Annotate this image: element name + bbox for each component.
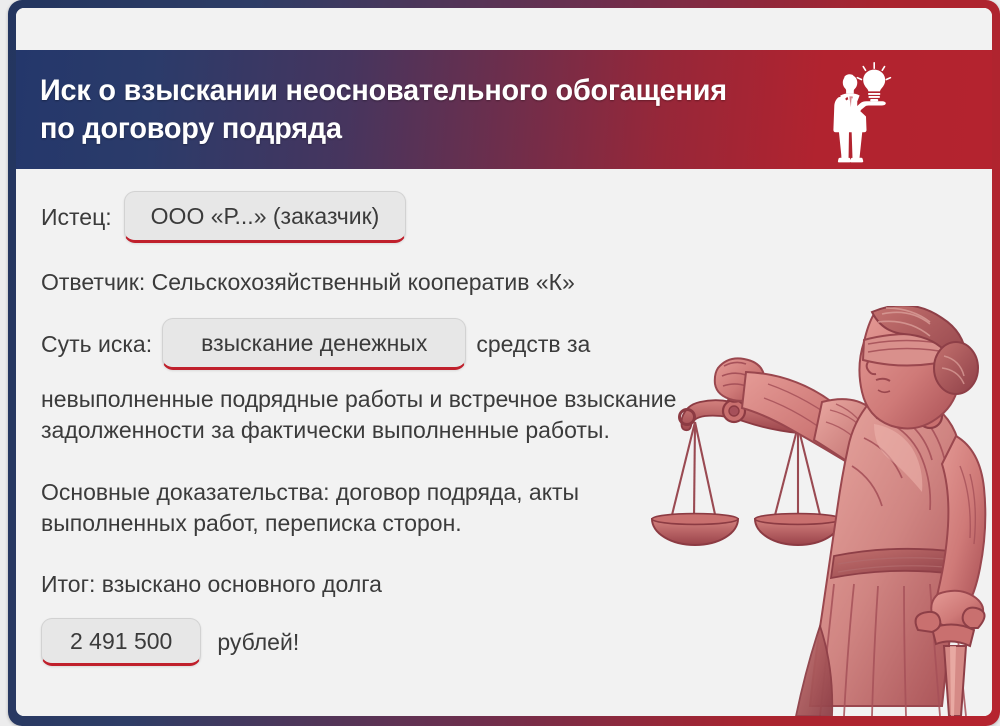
claim-tail-text: средств за bbox=[476, 331, 590, 358]
claim-row: Суть иска: взыскание денежных средств за bbox=[41, 318, 741, 370]
card-inner: Иск о взыскании неосновательного обогаще… bbox=[16, 8, 992, 716]
defendant-line: Ответчик: Сельскохозяйственный кооперати… bbox=[41, 269, 741, 296]
top-strip bbox=[16, 8, 992, 50]
body-area: Истец: ООО «Р...» (заказчик) Ответчик: С… bbox=[16, 169, 992, 716]
amount-suffix: рублей! bbox=[217, 629, 299, 656]
claim-chip[interactable]: взыскание денежных bbox=[162, 318, 466, 370]
amount-chip[interactable]: 2 491 500 bbox=[41, 618, 201, 666]
plaintiff-row: Истец: ООО «Р...» (заказчик) bbox=[41, 191, 741, 243]
card-frame: Иск о взыскании неосновательного обогаще… bbox=[8, 0, 1000, 726]
infographic-canvas: Иск о взыскании неосновательного обогаще… bbox=[0, 0, 1000, 726]
evidence-paragraph: Основные доказательства: договор подряда… bbox=[41, 477, 711, 540]
plaintiff-label: Истец: bbox=[41, 204, 112, 231]
businessman-with-lightbulb-icon bbox=[816, 56, 904, 166]
content-column: Истец: ООО «Р...» (заказчик) Ответчик: С… bbox=[16, 169, 741, 666]
amount-row: 2 491 500 рублей! bbox=[41, 618, 741, 666]
page-title: Иск о взыскании неосновательного обогаще… bbox=[16, 72, 731, 146]
plaintiff-chip[interactable]: ООО «Р...» (заказчик) bbox=[124, 191, 407, 243]
result-line: Итог: взыскано основного долга bbox=[41, 569, 711, 600]
claim-label: Суть иска: bbox=[41, 331, 152, 358]
header-band: Иск о взыскании неосновательного обогаще… bbox=[16, 50, 992, 169]
claim-paragraph: невыполненные подрядные работы и встречн… bbox=[41, 384, 711, 447]
